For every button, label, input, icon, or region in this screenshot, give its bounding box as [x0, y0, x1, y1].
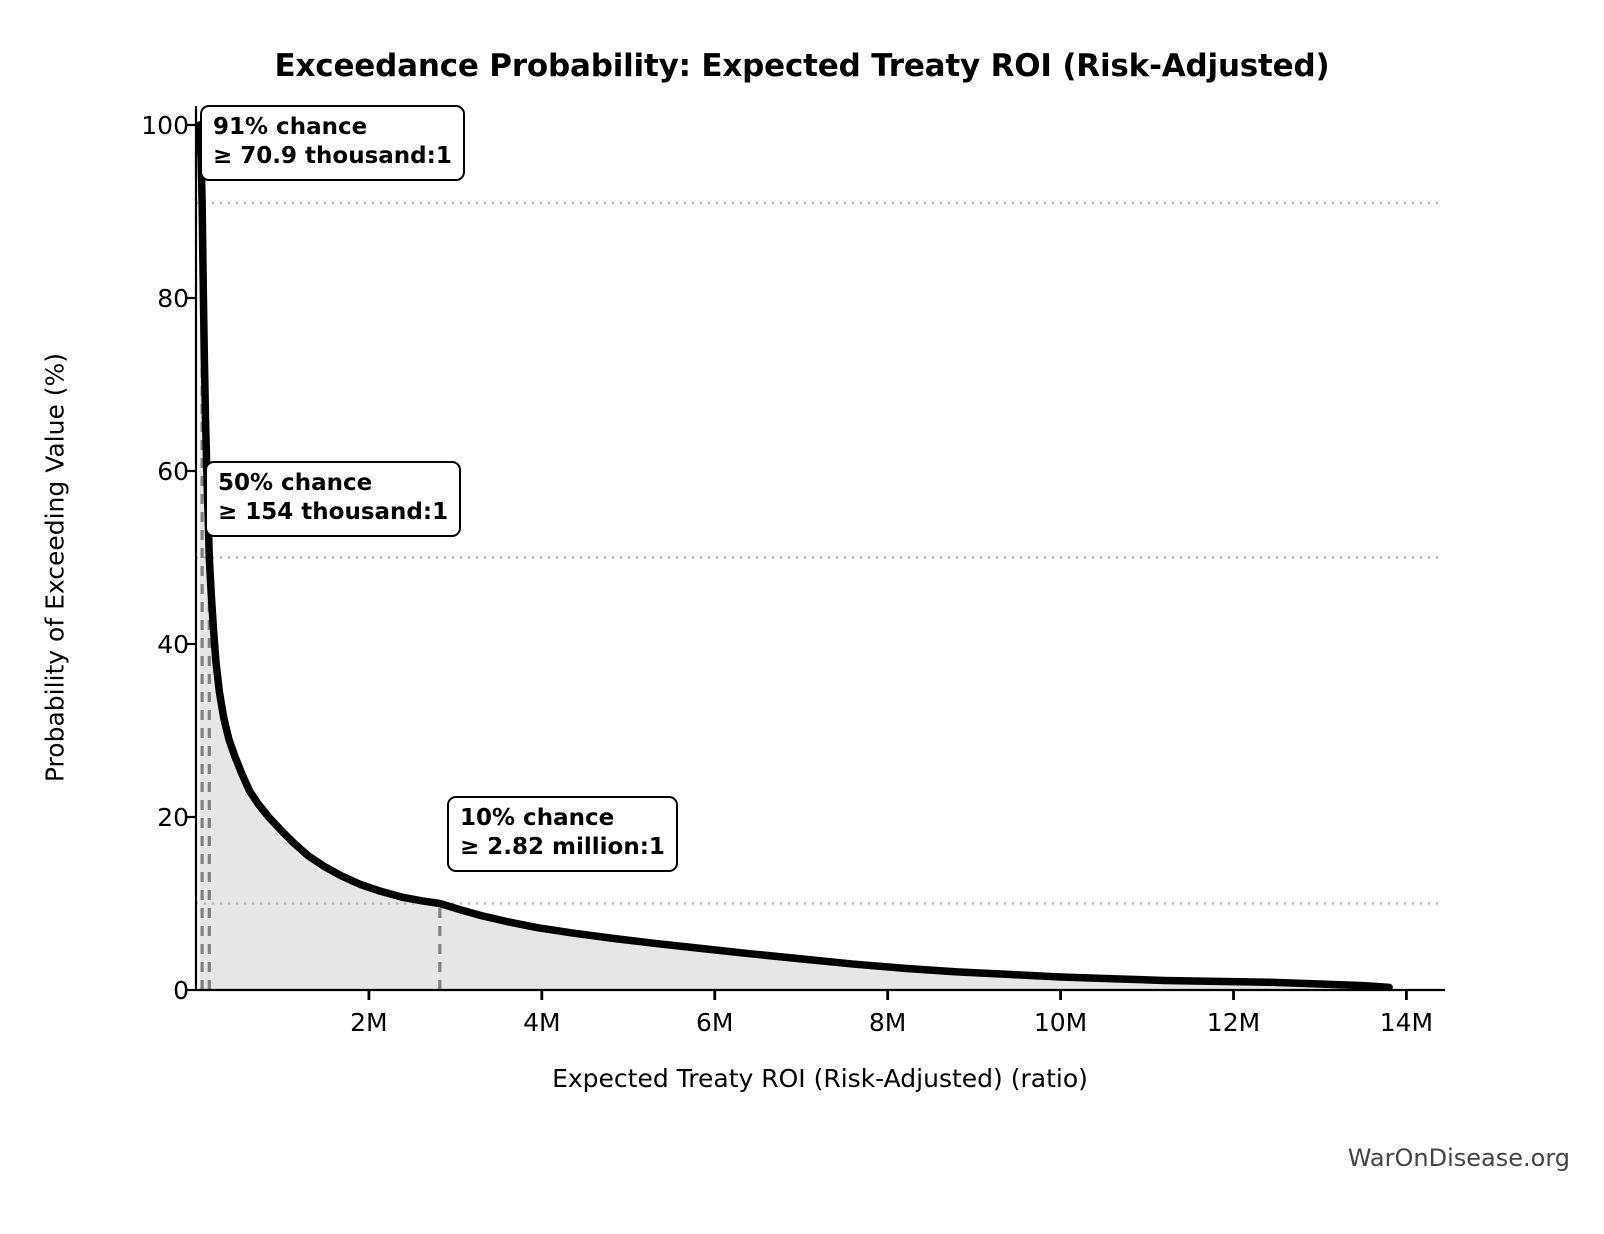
- plot-area: [0, 0, 1604, 1234]
- x-tick-label-6M: 6M: [655, 1008, 775, 1037]
- y-tick-label-60: 60: [69, 457, 189, 486]
- x-tick-label-2M: 2M: [309, 1008, 429, 1037]
- annotation-value-text: ≥ 2.82 million:1: [460, 833, 665, 862]
- annotation-value-text: ≥ 154 thousand:1: [218, 498, 448, 527]
- y-tick-label-40: 40: [69, 630, 189, 659]
- annotation-probability-text: 10% chance: [460, 805, 614, 831]
- annotation-probability-text: 50% chance: [218, 470, 372, 496]
- x-tick-label-14M: 14M: [1346, 1008, 1466, 1037]
- y-tick-label-100: 100: [69, 111, 189, 140]
- chart-figure: Exceedance Probability: Expected Treaty …: [0, 0, 1604, 1234]
- annotation-box-91: 91% chance≥ 70.9 thousand:1: [200, 105, 465, 181]
- x-tick-label-12M: 12M: [1174, 1008, 1294, 1037]
- annotation-value-text: ≥ 70.9 thousand:1: [213, 142, 452, 171]
- y-tick-label-0: 0: [69, 976, 189, 1005]
- x-tick-label-4M: 4M: [482, 1008, 602, 1037]
- annotation-probability-text: 91% chance: [213, 114, 367, 140]
- watermark-label: WarOnDisease.org: [1348, 1144, 1570, 1172]
- y-tick-label-20: 20: [69, 803, 189, 832]
- x-tick-label-8M: 8M: [828, 1008, 948, 1037]
- annotation-box-10: 10% chance≥ 2.82 million:1: [447, 796, 678, 872]
- y-tick-label-80: 80: [69, 284, 189, 313]
- annotation-box-50: 50% chance≥ 154 thousand:1: [205, 461, 461, 537]
- x-tick-label-10M: 10M: [1001, 1008, 1121, 1037]
- curve-area-fill: [199, 125, 1389, 990]
- exceedance-curve: [199, 125, 1389, 987]
